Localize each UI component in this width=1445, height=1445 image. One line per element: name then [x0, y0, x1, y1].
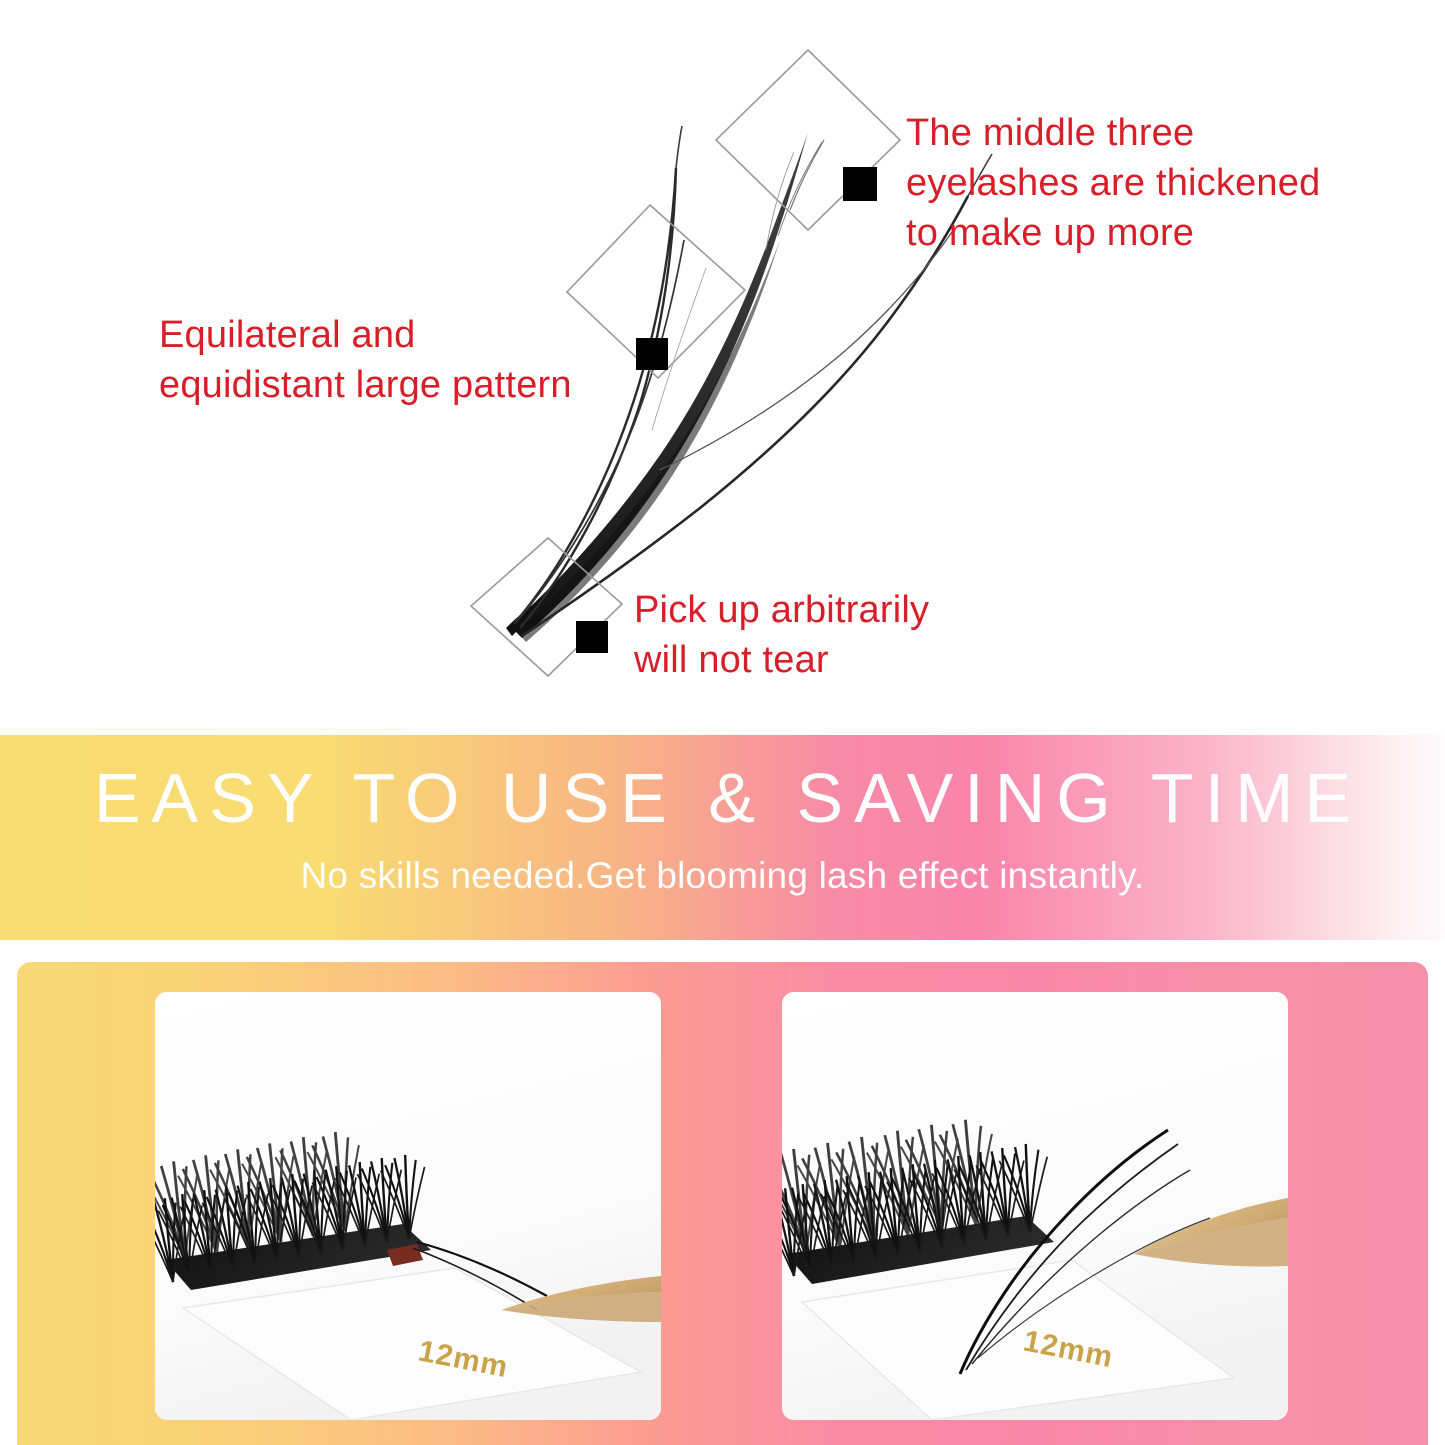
- black-square-marker-middle: [636, 338, 668, 370]
- black-square-marker-top: [843, 167, 877, 201]
- callout-pick-up: Pick up arbitrarily will not tear: [634, 585, 1014, 685]
- eyelash-tray-photo-right: 12mm: [782, 992, 1288, 1420]
- lash-diagram-section: The middle three eyelashes are thickened…: [0, 0, 1445, 735]
- product-infographic: The middle three eyelashes are thickened…: [0, 0, 1445, 1445]
- lash-wisp-c: [766, 152, 794, 250]
- black-square-marker-bottom: [576, 621, 608, 653]
- eyelash-tray-photo-left: 12mm: [155, 992, 661, 1420]
- headline-banner: EASY TO USE & SAVING TIME No skills need…: [0, 735, 1445, 940]
- callout-middle-three: The middle three eyelashes are thickened…: [906, 108, 1356, 258]
- banner-subtitle: No skills needed.Get blooming lash effec…: [0, 857, 1445, 894]
- lash-fiber-far-right: [660, 232, 952, 470]
- callout-equilateral: Equilateral and equidistant large patter…: [159, 310, 629, 410]
- photo-card-right[interactable]: 12mm: [782, 992, 1288, 1420]
- photo-gallery-panel: 12mm: [17, 962, 1428, 1445]
- lash-fiber-left-tip: [676, 126, 682, 168]
- photo-card-left[interactable]: 12mm: [155, 992, 661, 1420]
- banner-title: EASY TO USE & SAVING TIME: [0, 763, 1445, 833]
- diamond-outline-frame-top: [716, 50, 900, 230]
